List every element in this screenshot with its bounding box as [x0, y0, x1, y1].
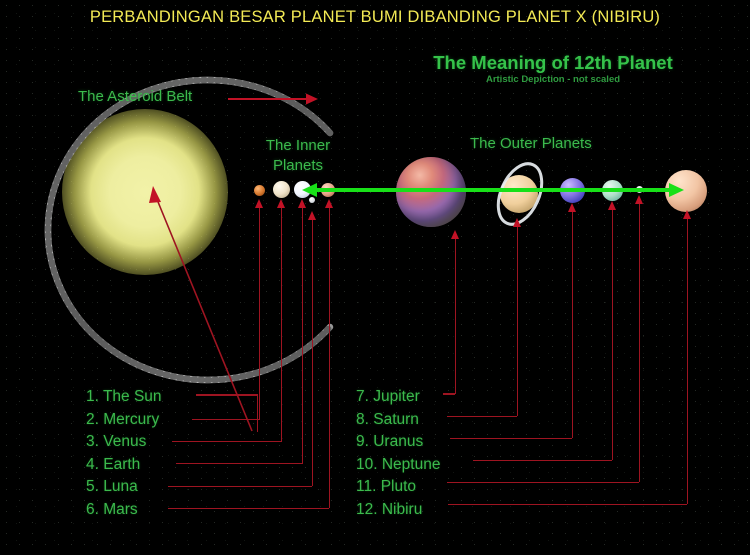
diagram-subtitle: The Meaning of 12th Planet [398, 52, 708, 74]
leader-line-earth-h [176, 463, 302, 465]
legend-item-neptune[interactable]: 10. Neptune [356, 454, 440, 477]
leader-arrow-mercury [255, 199, 263, 208]
leader-arrow-mars [325, 199, 333, 208]
venus-body [273, 181, 290, 198]
leader-line-nibiru-v [687, 218, 689, 504]
legend-item-pluto[interactable]: 11. Pluto [356, 476, 440, 499]
leader-arrow-saturn [513, 218, 521, 227]
leader-line-luna-h [168, 486, 312, 488]
leader-line-nibiru-h [448, 504, 687, 506]
leader-line-mars-v [329, 208, 331, 508]
leader-arrow-pluto [635, 195, 643, 204]
leader-arrow-luna [308, 211, 316, 220]
legend-item-jupiter[interactable]: 7. Jupiter [356, 386, 440, 409]
leader-line-saturn-h [447, 416, 517, 418]
leader-line-uranus-h [450, 438, 572, 440]
legend-item-saturn[interactable]: 8. Saturn [356, 409, 440, 432]
asteroid-belt-pointer-arrow [228, 92, 318, 106]
leader-line-pluto-h [447, 482, 639, 484]
legend-item-sun[interactable]: 1. The Sun [86, 386, 162, 409]
leader-line-pluto-v [639, 203, 641, 482]
legend-item-earth[interactable]: 4. Earth [86, 454, 162, 477]
legend-item-luna[interactable]: 5. Luna [86, 476, 162, 499]
leader-arrow-nibiru [683, 210, 691, 219]
leader-line-sun [148, 183, 258, 433]
leader-line-neptune-h [473, 460, 612, 462]
leader-line-mercury-h [192, 419, 259, 421]
leader-arrow-venus [277, 199, 285, 208]
outer-planets-label: The Outer Planets [470, 135, 592, 152]
leader-line-venus-h [172, 441, 281, 443]
leader-line-sun-h [196, 394, 258, 396]
legend-inner-planets: 1. The Sun 2. Mercury 3. Venus 4. Earth … [86, 386, 162, 521]
leader-line-uranus-v [572, 211, 574, 438]
leader-arrow-uranus [568, 203, 576, 212]
leader-line-saturn-v [517, 226, 519, 416]
legend-item-mars[interactable]: 6. Mars [86, 499, 162, 522]
leader-line-mars-h [168, 508, 329, 510]
legend-item-nibiru[interactable]: 12. Nibiru [356, 499, 440, 522]
leader-arrow-earth [298, 199, 306, 208]
leader-line-luna-v [312, 219, 314, 486]
leader-line-venus-v [281, 208, 283, 442]
legend-outer-planets: 7. Jupiter 8. Saturn 9. Uranus 10. Neptu… [356, 386, 440, 521]
leader-arrow-jupiter [451, 230, 459, 239]
legend-item-uranus[interactable]: 9. Uranus [356, 431, 440, 454]
leader-line-mercury-v [259, 208, 261, 420]
legend-item-mercury[interactable]: 2. Mercury [86, 409, 162, 432]
legend-item-venus[interactable]: 3. Venus [86, 431, 162, 454]
leader-line-jupiter-v [455, 238, 457, 394]
leader-line-neptune-v [612, 209, 614, 460]
leader-line-jupiter-h [443, 393, 455, 395]
inner-planets-label: The Inner Planets [250, 136, 346, 176]
leader-line-earth-v [302, 208, 304, 464]
leader-arrow-neptune [608, 201, 616, 210]
size-compare-arrow [300, 181, 686, 199]
diagram-canvas: PERBANDINGAN BESAR PLANET BUMI DIBANDING… [0, 0, 750, 555]
page-title: PERBANDINGAN BESAR PLANET BUMI DIBANDING… [0, 8, 750, 27]
asteroid-belt-label: The Asteroid Belt [78, 88, 192, 105]
diagram-subtitle-note: Artistic Depiction - not scaled [398, 74, 708, 85]
